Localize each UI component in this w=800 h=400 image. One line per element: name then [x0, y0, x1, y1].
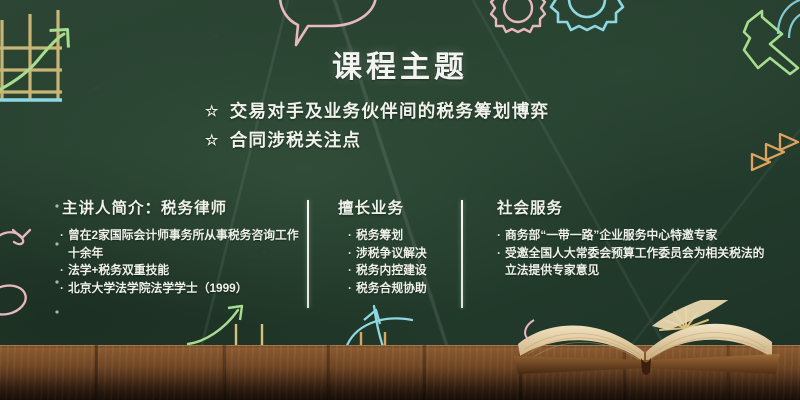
- list-item: · 税务内控建设: [348, 262, 458, 280]
- bullet-dot-icon: ·: [497, 227, 501, 245]
- list-item: · 受邀全国人大常委会预算工作委员会为相关税法的立法提供专家意见: [497, 245, 767, 280]
- subtitle-list: ☆ 交易对手及业务伙伴间的税务筹划博弈 ☆ 合同涉税关注点: [205, 97, 549, 155]
- list-item-text: 北京大学法学院法学学士（1999）: [68, 280, 248, 298]
- bullet-dot-icon: ·: [348, 262, 352, 280]
- star-icon: ☆: [205, 97, 220, 126]
- subtitle-text: 交易对手及业务伙伴间的税务筹划博弈: [230, 97, 550, 126]
- bullet-dot-icon: ·: [60, 280, 64, 298]
- bullet-dot-icon: ·: [348, 227, 352, 245]
- list-item-text: 税务内控建设: [356, 262, 427, 280]
- column-social-service: 社会服务 · 商务部“一带一路”企业服务中心特邀专家 · 受邀全国人大常委会预算…: [497, 196, 767, 280]
- bullet-dot-icon: ·: [348, 245, 352, 263]
- list-item: · 曾在2家国际会计师事务所从事税务咨询工作十余年: [60, 227, 300, 262]
- subtitle-item: ☆ 交易对手及业务伙伴间的税务筹划博弈: [205, 97, 549, 126]
- bullet-dot-icon: ·: [497, 245, 501, 280]
- list-item-text: 曾在2家国际会计师事务所从事税务咨询工作十余年: [68, 227, 300, 262]
- list-item: · 商务部“一带一路”企业服务中心特邀专家: [497, 227, 767, 245]
- list-item: · 税务合规协助: [348, 280, 458, 298]
- presentation-slide: 课程主题 ☆ 交易对手及业务伙伴间的税务筹划博弈 ☆ 合同涉税关注点 主讲人简介…: [0, 0, 800, 400]
- star-icon: ☆: [205, 126, 220, 155]
- open-book-image: [500, 300, 800, 380]
- list-item-text: 税务合规协助: [356, 280, 427, 298]
- triangle-arrows-icon: [744, 120, 800, 182]
- column-heading: 社会服务: [497, 196, 767, 218]
- bullet-dot-icon: ·: [60, 227, 64, 262]
- column-speaker-profile: 主讲人简介：税务律师 · 曾在2家国际会计师事务所从事税务咨询工作十余年 · 法…: [60, 196, 300, 297]
- list-item-text: 税务筹划: [356, 227, 403, 245]
- gear-icon-pink: [488, 0, 548, 40]
- list-item: · 税务筹划: [348, 227, 458, 245]
- bullet-dot-icon: ·: [60, 262, 64, 280]
- column-heading: 主讲人简介：税务律师: [62, 196, 300, 218]
- column-specialties: 擅长业务 · 税务筹划 · 涉税争议解决 · 税务内控建设 · 税务合规协助: [338, 196, 458, 297]
- gear-icon-cyan: [548, 0, 626, 38]
- list-item-text: 商务部“一带一路”企业服务中心特邀专家: [505, 227, 717, 245]
- subtitle-item: ☆ 合同涉税关注点: [205, 126, 549, 155]
- list-item: · 法学+税务双重技能: [60, 262, 300, 280]
- info-columns: 主讲人简介：税务律师 · 曾在2家国际会计师事务所从事税务咨询工作十余年 · 法…: [0, 196, 800, 316]
- list-item-text: 受邀全国人大常委会预算工作委员会为相关税法的立法提供专家意见: [505, 245, 767, 280]
- slide-title: 课程主题: [0, 42, 800, 86]
- subtitle-text: 合同涉税关注点: [230, 126, 362, 155]
- list-item: · 北京大学法学院法学学士（1999）: [60, 280, 300, 298]
- list-item: · 涉税争议解决: [348, 245, 458, 263]
- list-item-text: 法学+税务双重技能: [68, 262, 169, 280]
- bullet-dot-icon: ·: [348, 280, 352, 298]
- list-item-text: 涉税争议解决: [356, 245, 427, 263]
- column-heading: 擅长业务: [338, 196, 458, 218]
